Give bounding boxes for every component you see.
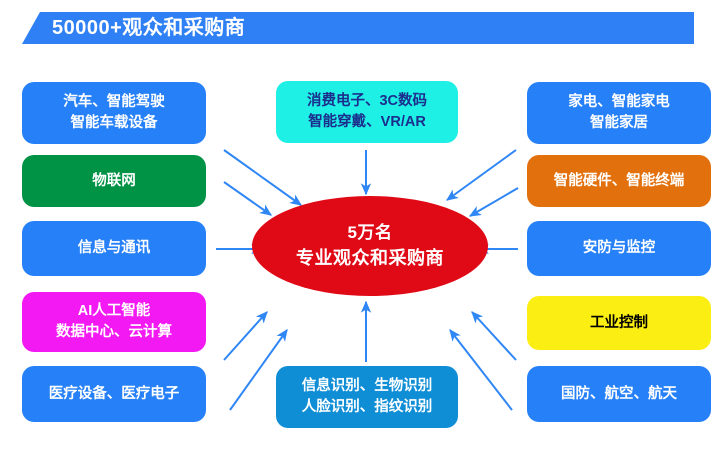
category-box-home-appliance[interactable]: 家电、智能家电智能家居 — [527, 82, 711, 144]
category-label-line1: 家电、智能家电 — [568, 92, 670, 113]
category-label-line2: 智能穿戴、VR/AR — [308, 112, 426, 133]
category-label-line1: 消费电子、3C数码 — [307, 91, 427, 112]
category-box-recognition[interactable]: 信息识别、生物识别人脸识别、指纹识别 — [276, 366, 458, 428]
category-label-line1: 安防与监控 — [583, 238, 656, 259]
arrow-ai-cloud-to-center — [224, 312, 267, 360]
category-box-industrial-control[interactable]: 工业控制 — [527, 296, 711, 350]
category-label-line1: 信息识别、生物识别 — [302, 376, 433, 397]
center-ellipse: 5万名 专业观众和采购商 — [252, 196, 488, 296]
category-box-iot[interactable]: 物联网 — [22, 155, 206, 207]
arrow-smart-hardware-to-center — [470, 188, 518, 216]
category-box-info-communication[interactable]: 信息与通讯 — [22, 221, 206, 276]
category-label-line2: 智能车载设备 — [71, 113, 158, 134]
category-box-ai-cloud[interactable]: AI人工智能数据中心、云计算 — [22, 292, 206, 352]
category-label-line1: AI人工智能 — [78, 301, 151, 322]
arrow-industrial-to-center — [472, 312, 516, 360]
arrow-defense-to-center — [450, 330, 512, 410]
category-label-line2: 人脸识别、指纹识别 — [302, 397, 433, 418]
category-label-line1: 国防、航空、航天 — [561, 384, 677, 405]
arrow-automotive-to-center — [224, 150, 301, 205]
category-box-medical[interactable]: 医疗设备、医疗电子 — [22, 366, 206, 422]
category-label-line1: 智能硬件、智能终端 — [554, 171, 685, 192]
category-box-consumer-electronics[interactable]: 消费电子、3C数码智能穿戴、VR/AR — [276, 81, 458, 143]
category-box-smart-hardware[interactable]: 智能硬件、智能终端 — [527, 155, 711, 207]
arrow-home-appliance-to-center — [447, 150, 516, 200]
arrow-iot-to-center — [224, 182, 271, 215]
category-box-security-surveillance[interactable]: 安防与监控 — [527, 221, 711, 276]
category-label-line1: 医疗设备、医疗电子 — [49, 384, 180, 405]
category-label-line2: 数据中心、云计算 — [56, 322, 172, 343]
diagram-canvas: 50000+观众和采购商 汽车、智能驾驶智能车载设备消费电子、3C数码智能穿戴、… — [0, 0, 719, 450]
category-label-line2: 智能家居 — [590, 113, 648, 134]
category-box-defense-aerospace[interactable]: 国防、航空、航天 — [527, 366, 711, 422]
category-label-line1: 信息与通讯 — [78, 238, 151, 259]
category-label-line1: 物联网 — [92, 171, 136, 192]
category-label-line1: 汽车、智能驾驶 — [63, 92, 165, 113]
category-box-automotive[interactable]: 汽车、智能驾驶智能车载设备 — [22, 82, 206, 144]
category-label-line1: 工业控制 — [590, 313, 648, 334]
center-headline: 5万名 — [348, 221, 393, 245]
center-subline: 专业观众和采购商 — [296, 245, 444, 271]
